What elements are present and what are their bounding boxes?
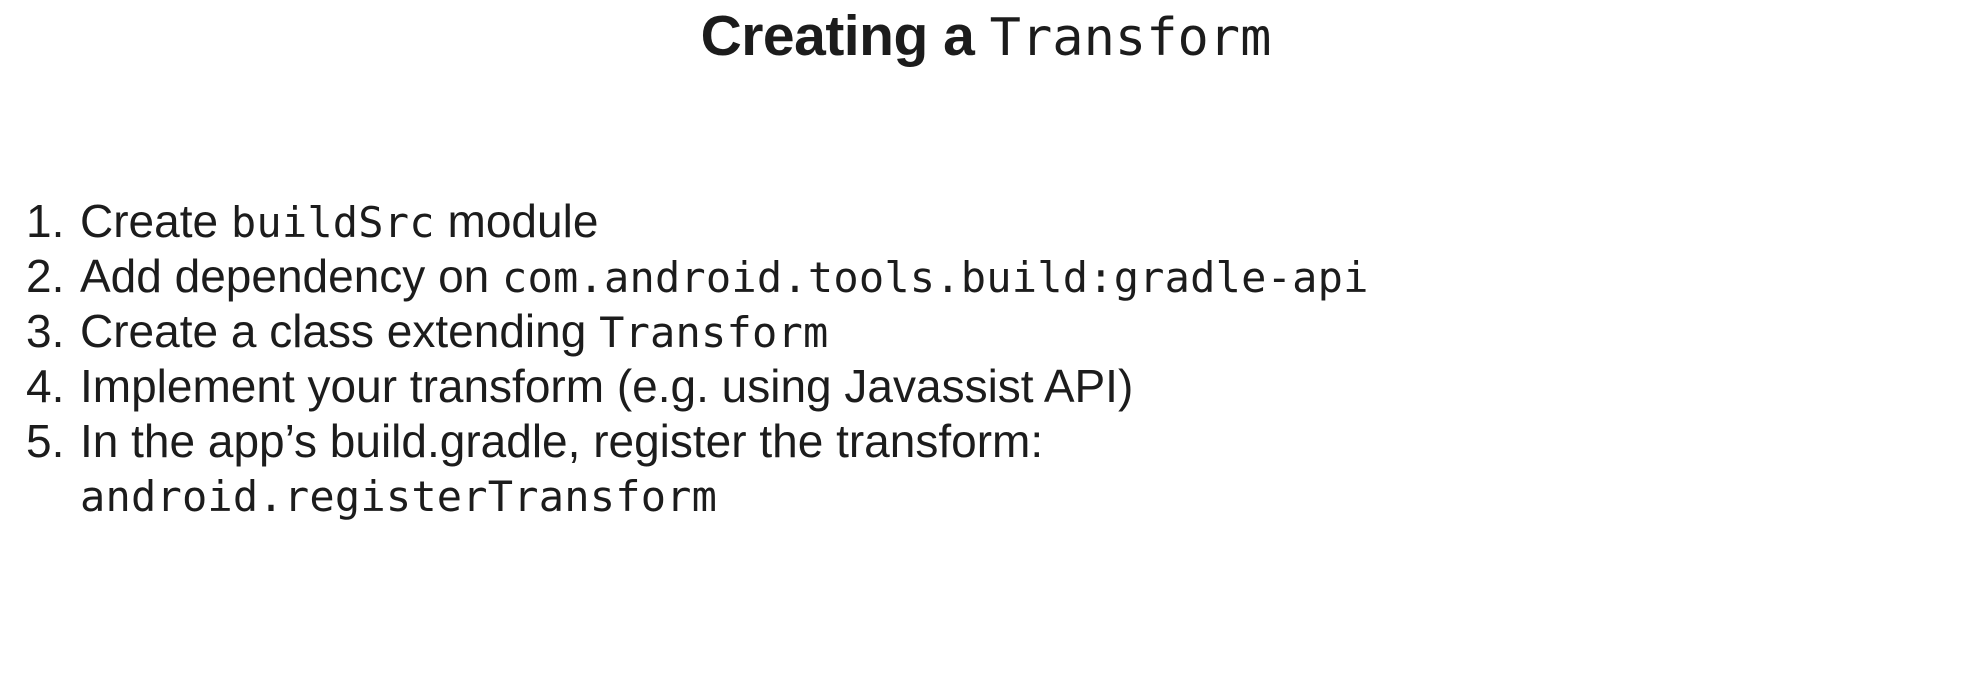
list-item-marker: 5. [26, 414, 80, 469]
numbered-list: 1. Create buildSrc module 2. Add depende… [26, 194, 1972, 524]
list-item: 5. In the app’s build.gradle, register t… [26, 414, 1972, 469]
page-title-plain: Creating a [701, 4, 990, 68]
list-item: 3. Create a class extending Transform [26, 304, 1972, 359]
list-item-text: Create buildSrc module [80, 194, 1972, 250]
list-item: 4. Implement your transform (e.g. using … [26, 359, 1972, 414]
text-segment-sans: Add dependency on [80, 250, 502, 302]
list-item: 2. Add dependency on com.android.tools.b… [26, 249, 1972, 304]
page-title: Creating a Transform [0, 8, 1972, 65]
list-item-text: In the app’s build.gradle, register the … [80, 414, 1972, 469]
list-item-marker: 3. [26, 304, 80, 359]
list-item-marker: 4. [26, 359, 80, 414]
list-item-marker: 2. [26, 249, 80, 304]
list-item-text: Implement your transform (e.g. using Jav… [80, 359, 1972, 414]
text-segment-sans: module [435, 195, 599, 247]
text-segment-sans: Implement your transform (e.g. using Jav… [80, 360, 1133, 412]
list-item-marker: 1. [26, 194, 80, 249]
text-segment-sans: Create a class extending [80, 305, 599, 357]
code-segment: Transform [599, 308, 828, 357]
list-item-continuation: android.registerTransform [26, 469, 1972, 524]
slide-canvas: Creating a Transform 1. Create buildSrc … [0, 0, 1972, 686]
list-item-text: Create a class extending Transform [80, 304, 1972, 360]
list-item-text: Add dependency on com.android.tools.buil… [80, 249, 1972, 305]
page-title-code: Transform [990, 8, 1272, 68]
code-segment: buildSrc [231, 198, 435, 247]
continuation-indent [26, 469, 80, 524]
text-segment-sans: Create [80, 195, 231, 247]
text-segment-sans: In the app’s build.gradle, register the … [80, 415, 1043, 467]
list-item: 1. Create buildSrc module [26, 194, 1972, 249]
code-segment: android.registerTransform [80, 469, 717, 524]
code-segment: com.android.tools.build:gradle-api [502, 253, 1369, 302]
